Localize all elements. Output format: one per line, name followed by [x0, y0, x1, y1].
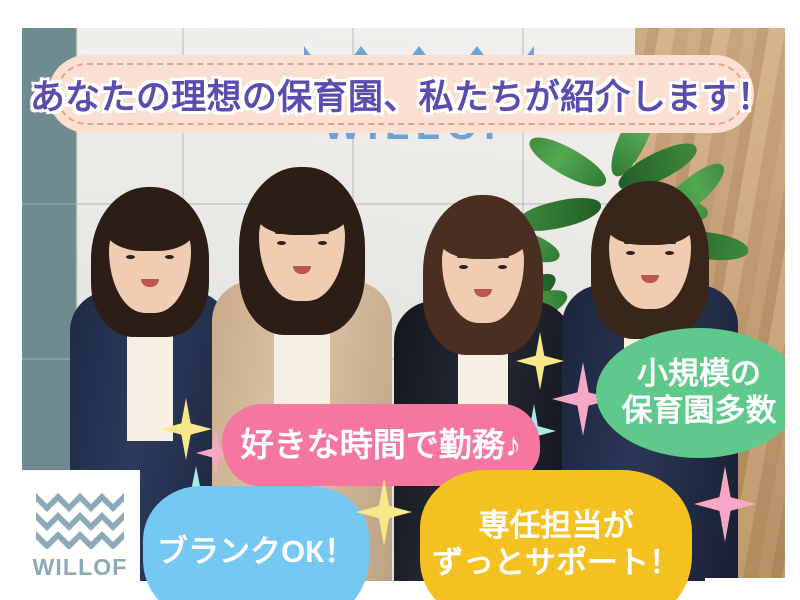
headline-text: あなたの理想の保育園、私たちが紹介します！ [30, 69, 772, 120]
bubble-blank-ok[interactable]: ブランクОК！ [143, 486, 369, 600]
bottom-right-margin [705, 578, 785, 600]
bubble-small-nurseries-text: 小規模の 保育園多数 [622, 356, 777, 429]
top-margin [0, 0, 800, 28]
bubble-dedicated-support-text: 専任担当が ずっとサポート！ [432, 508, 680, 581]
left-margin [0, 0, 22, 600]
willof-logo-card[interactable]: WILLOF [20, 470, 140, 600]
willof-wordmark: WILLOF [32, 556, 127, 579]
bubble-green-line1: 小規模の [637, 356, 761, 391]
poster-root: WILLOF [0, 0, 800, 600]
headline-banner: あなたの理想の保育園、私たちが紹介します！ [48, 55, 754, 133]
bubble-flexible-hours-text: 好きな時間で勤務♪ [241, 426, 522, 465]
bubble-green-line2: 保育園多数 [622, 393, 777, 428]
willof-zigzag-icon [36, 491, 124, 549]
bubble-dedicated-support[interactable]: 専任担当が ずっとサポート！ [420, 470, 692, 600]
bubble-yellow-line1: 専任担当が [479, 508, 634, 543]
right-margin [785, 0, 800, 600]
bubble-yellow-line2: ずっとサポート！ [432, 545, 680, 580]
bubble-small-nurseries[interactable]: 小規模の 保育園多数 [596, 328, 800, 458]
bubble-blank-ok-text: ブランクОК！ [157, 534, 355, 571]
